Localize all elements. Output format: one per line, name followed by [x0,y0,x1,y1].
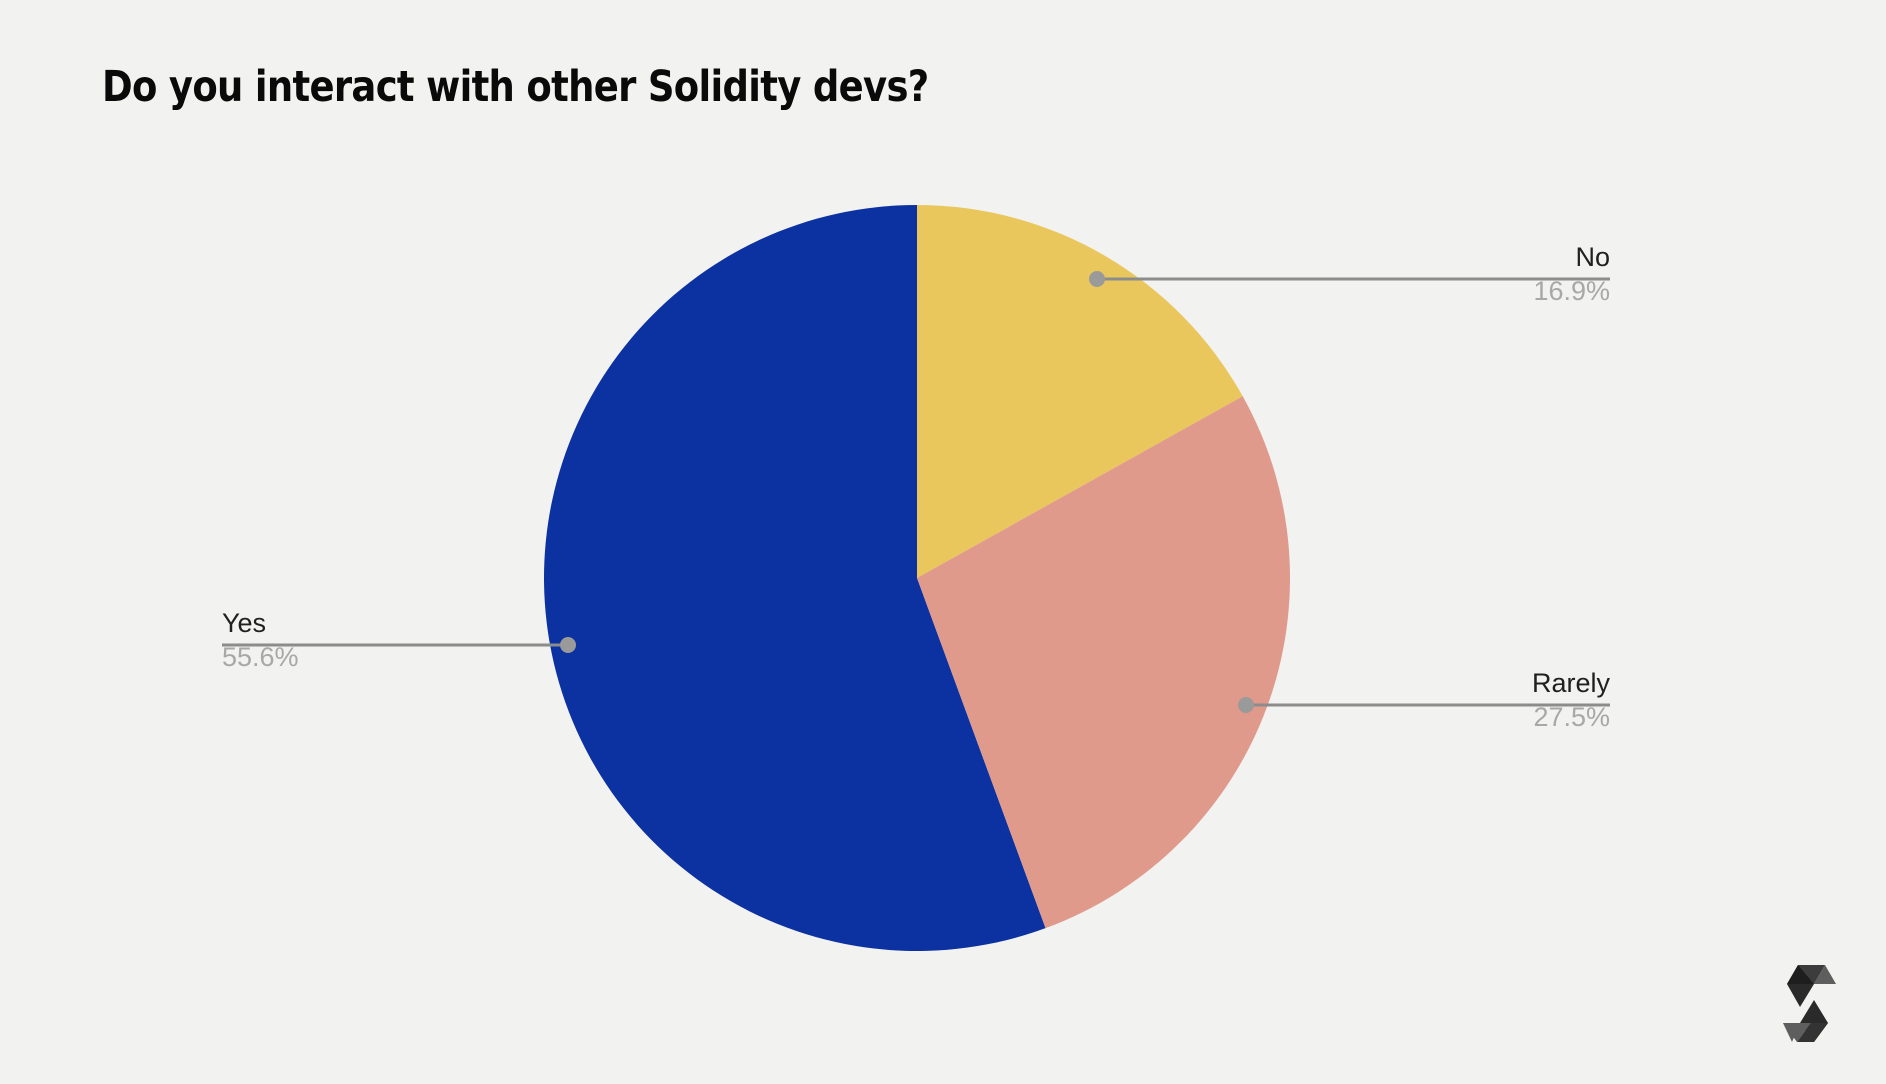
logo-facet-top-bottom [1787,984,1814,1007]
pie-label-yes-value: 55.6% [222,640,522,674]
pie-chart [0,0,1886,1084]
leader-dot-rarely [1238,697,1254,713]
pie-label-rarely-name: Rarely [1310,666,1610,700]
pie-label-no-value: 16.9% [1310,274,1610,308]
pie-label-yes: Yes 55.6% [222,606,522,674]
leader-dot-yes [560,637,576,653]
slide-canvas: Do you interact with other Solidity devs… [0,0,1886,1084]
solidity-logo [1780,962,1848,1046]
pie-label-rarely: Rarely 27.5% [1310,666,1610,734]
pie-label-no: No 16.9% [1310,240,1610,308]
logo-facet-bottom-dark [1800,1000,1828,1023]
pie-label-rarely-value: 27.5% [1310,700,1610,734]
leader-dot-no [1089,271,1105,287]
pie-label-no-name: No [1310,240,1610,274]
pie-label-yes-name: Yes [222,606,522,640]
